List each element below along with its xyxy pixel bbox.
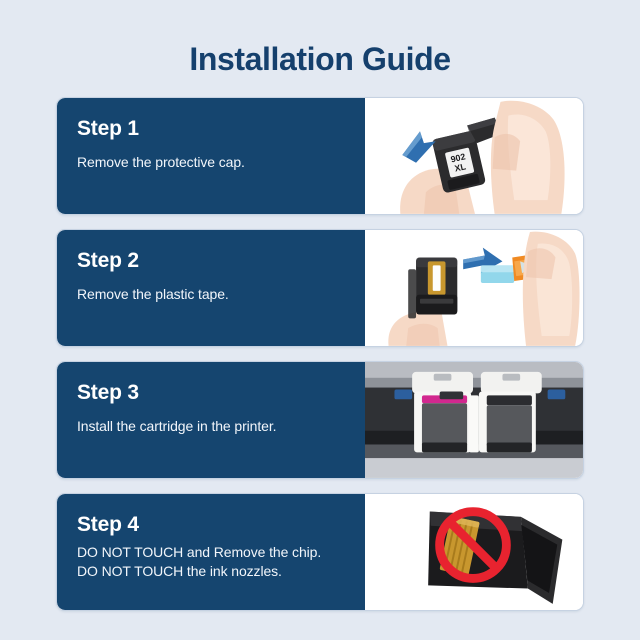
- step-description-line: Remove the plastic tape.: [77, 285, 345, 305]
- step-description: Remove the protective cap.: [77, 153, 345, 173]
- step-heading: Step 3: [77, 380, 345, 405]
- step-card: Step 2 Remove the plastic tape.: [56, 229, 584, 347]
- step-description: DO NOT TOUCH and Remove the chip. DO NOT…: [77, 543, 345, 580]
- step-image-panel: [365, 230, 583, 346]
- page-title: Installation Guide: [56, 0, 584, 97]
- step-text-panel: Step 1 Remove the protective cap.: [57, 98, 365, 214]
- installation-guide-page: Installation Guide Step 1 Remove the pro…: [0, 0, 640, 640]
- step-image-panel: [365, 362, 583, 478]
- step-text-panel: Step 4 DO NOT TOUCH and Remove the chip.…: [57, 494, 365, 610]
- step-description-line: Remove the protective cap.: [77, 153, 345, 173]
- hands-removing-protective-cap-illustration: 902 XL: [365, 98, 583, 214]
- step-description-line: DO NOT TOUCH and Remove the chip.: [77, 543, 345, 561]
- step-card: Step 3 Install the cartridge in the prin…: [56, 361, 584, 479]
- step-heading: Step 2: [77, 248, 345, 273]
- step-text-panel: Step 3 Install the cartridge in the prin…: [57, 362, 365, 478]
- step-card: Step 4 DO NOT TOUCH and Remove the chip.…: [56, 493, 584, 611]
- step-text-panel: Step 2 Remove the plastic tape.: [57, 230, 365, 346]
- step-image-panel: 902 XL: [365, 98, 583, 214]
- step-image-panel: [365, 494, 583, 610]
- step-description-line: DO NOT TOUCH the ink nozzles.: [77, 562, 345, 580]
- step-description: Remove the plastic tape.: [77, 285, 345, 305]
- step-card: Step 1 Remove the protective cap.: [56, 97, 584, 215]
- steps-list: Step 1 Remove the protective cap.: [56, 97, 584, 611]
- step-heading: Step 4: [77, 512, 345, 537]
- do-not-touch-chip-warning-illustration: [365, 494, 583, 610]
- step-heading: Step 1: [77, 116, 345, 141]
- step-description: Install the cartridge in the printer.: [77, 417, 345, 437]
- step-description-line: Install the cartridge in the printer.: [77, 417, 345, 437]
- hands-removing-plastic-tape-illustration: [365, 230, 583, 346]
- cartridges-installed-in-printer-illustration: [365, 362, 583, 478]
